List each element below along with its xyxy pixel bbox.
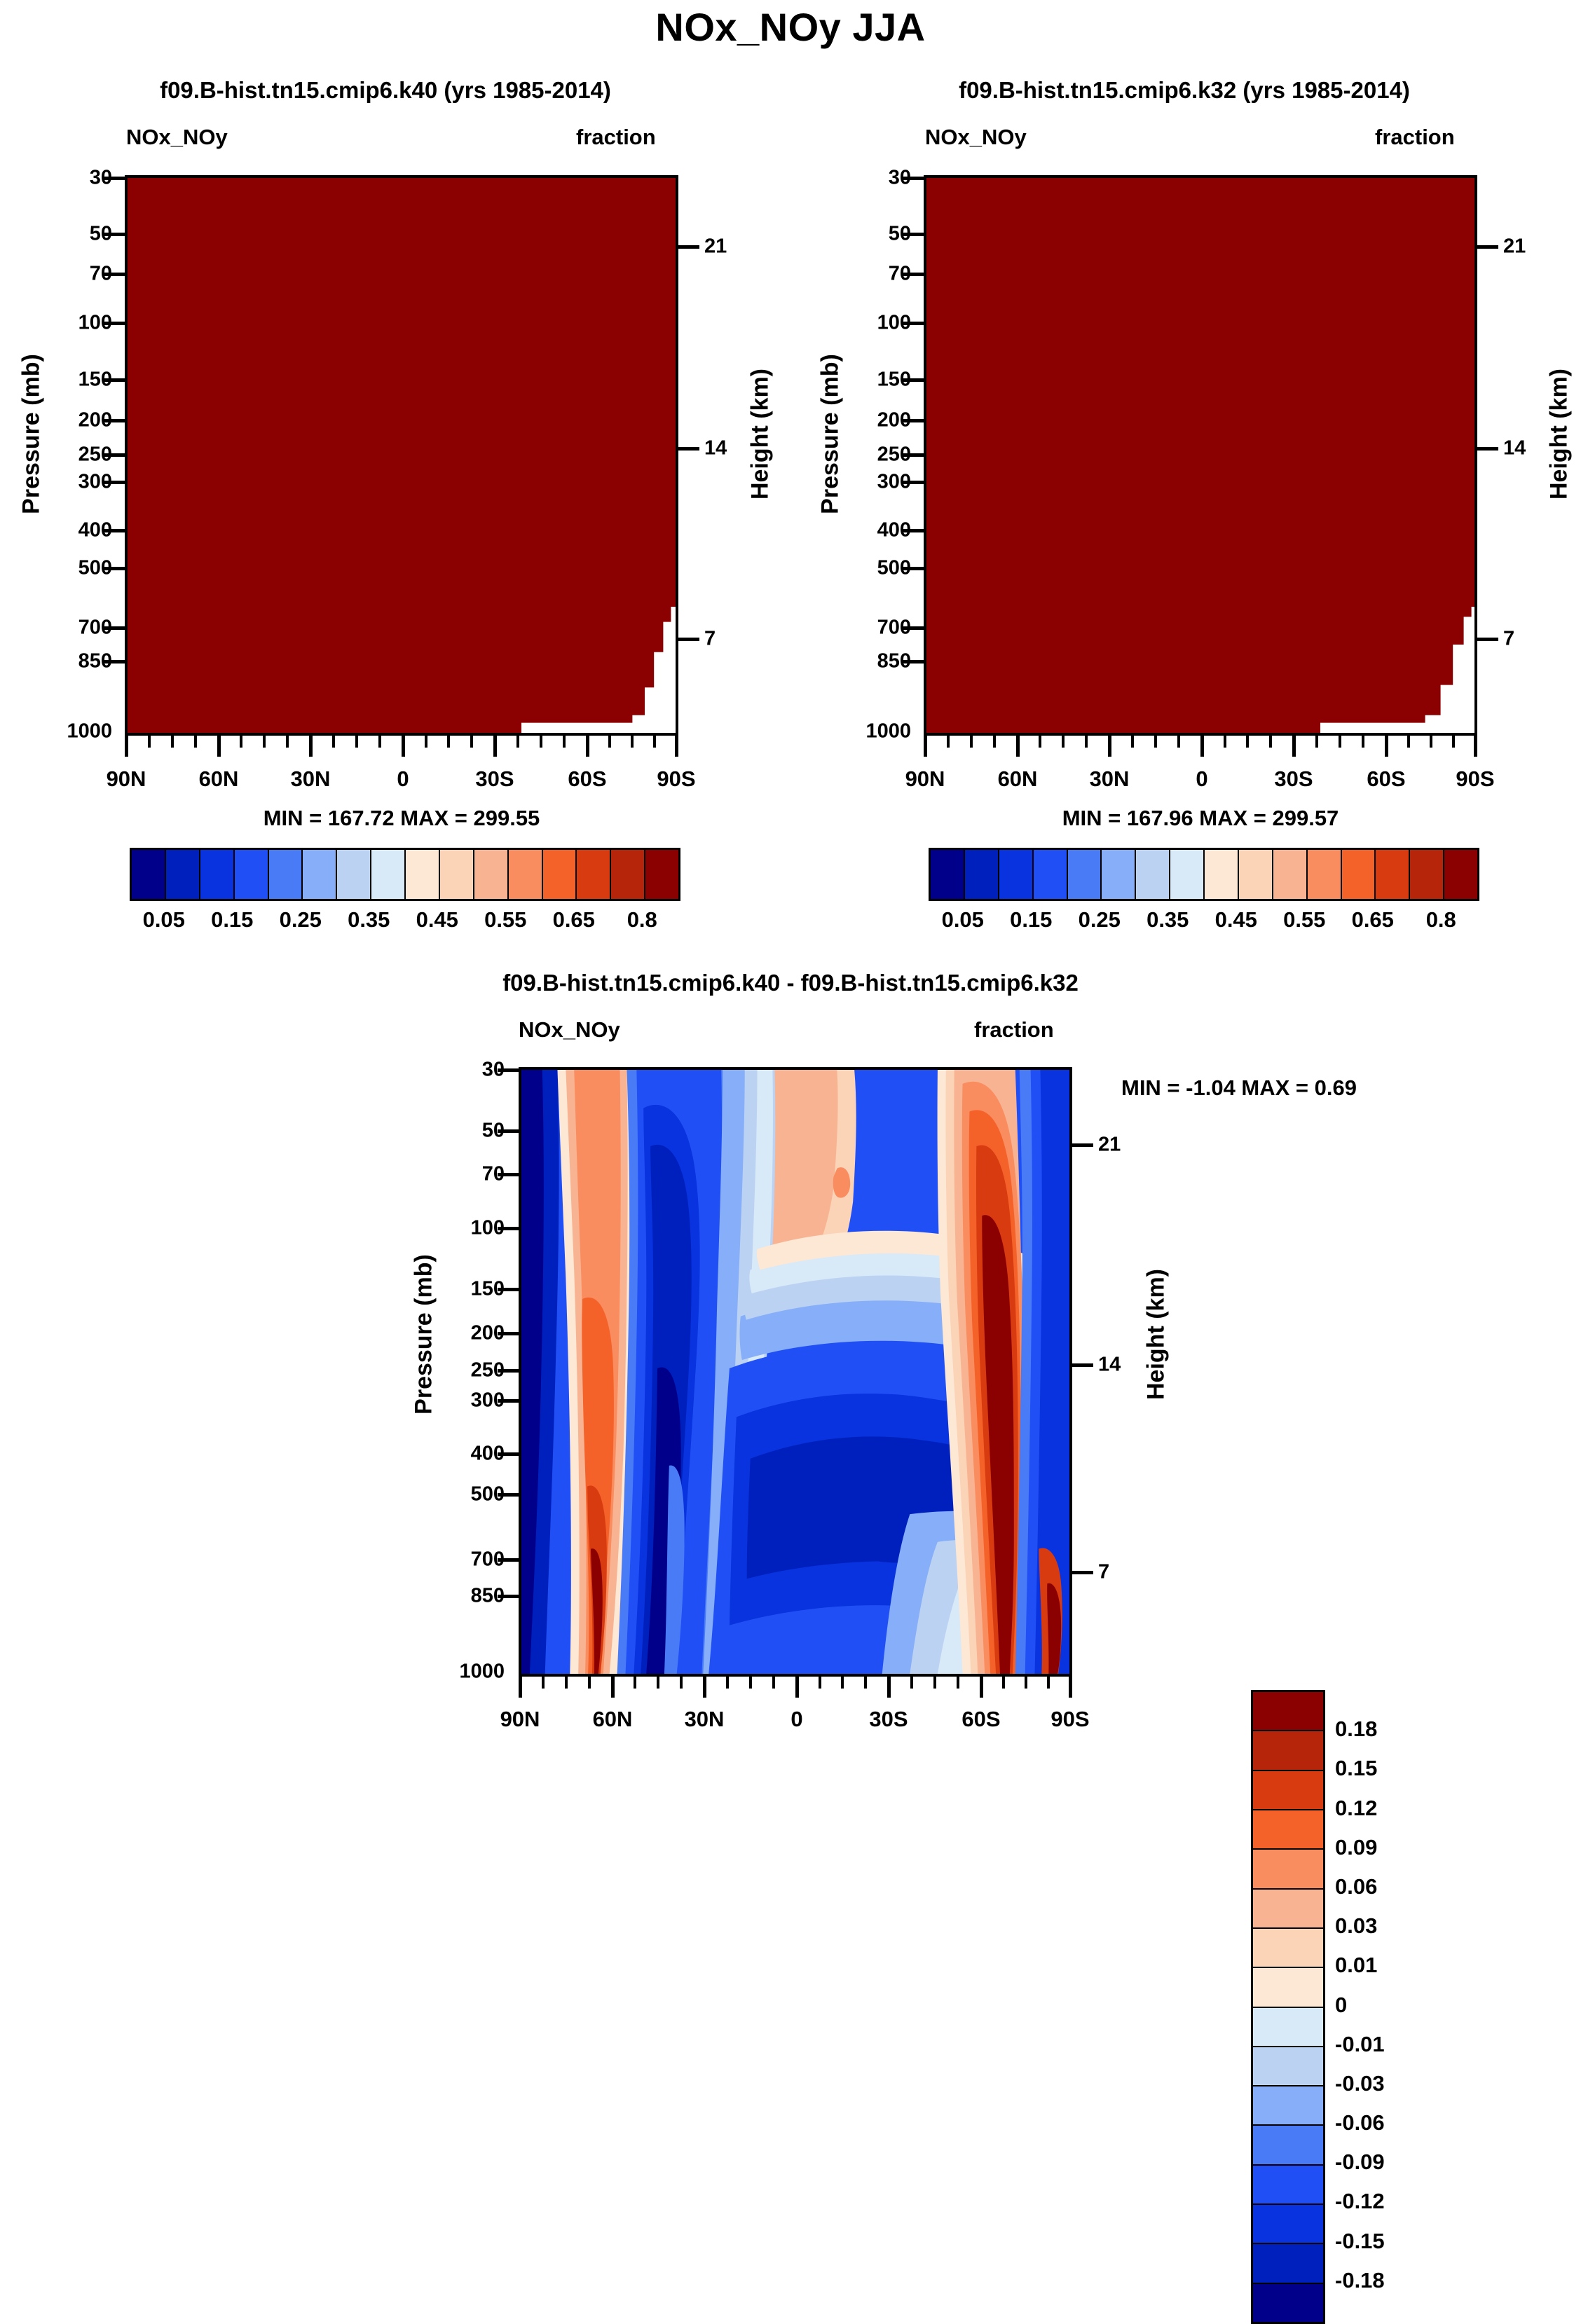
ytick-500: 500 — [392, 1483, 505, 1506]
colorbar-cell-0 — [931, 850, 965, 899]
xtick-60N: 60N — [998, 766, 1038, 792]
y2tick-21: 21 — [1503, 235, 1581, 259]
diff-colorbar-cell-1 — [1253, 1731, 1323, 1770]
colorbar-label-0: 0.05 — [143, 907, 185, 933]
diff-colorbar-cell-3 — [1253, 1810, 1323, 1850]
panel-k32-y-axis-title: Pressure (mb) — [817, 329, 844, 539]
xtick-90N: 90N — [500, 1707, 540, 1732]
colorbar-label-4: 0.45 — [416, 907, 458, 933]
ytick-100: 100 — [392, 1217, 505, 1240]
colorbar-cell-9 — [440, 850, 474, 899]
diff-colorbar-cell-7 — [1253, 1968, 1323, 2007]
y2tick-14: 14 — [1503, 437, 1581, 460]
ytick-150: 150 — [0, 369, 112, 392]
ytick-400: 400 — [392, 1443, 505, 1466]
colorbar-cell-15 — [645, 850, 678, 899]
colorbar-label-5: 0.55 — [1283, 907, 1325, 933]
colorbar-cell-5 — [303, 850, 337, 899]
diff-colorbar-cell-6 — [1253, 1929, 1323, 1968]
y2tick-7: 7 — [1098, 1561, 1182, 1584]
ytick-500: 500 — [0, 557, 112, 580]
xtick-30S: 30S — [475, 766, 514, 792]
ytick-50: 50 — [392, 1120, 505, 1143]
colorbar-label-5: 0.55 — [484, 907, 526, 933]
figure-title: NOx_NOy JJA — [0, 4, 1581, 50]
colorbar-cell-11 — [1308, 850, 1342, 899]
y2tick-14: 14 — [704, 437, 788, 460]
panel-k40-y-axis-title: Pressure (mb) — [18, 329, 46, 539]
panel-k32-field-fill — [926, 178, 1474, 733]
diff-colorbar-label-5: 0.03 — [1335, 1913, 1377, 1939]
colorbar-label-2: 0.25 — [280, 907, 322, 933]
xtick-0: 0 — [1196, 766, 1207, 792]
ytick-300: 300 — [392, 1389, 505, 1412]
colorbar-label-4: 0.45 — [1215, 907, 1257, 933]
diff-colorbar-cell-9 — [1253, 2047, 1323, 2086]
ytick-150: 150 — [392, 1278, 505, 1301]
colorbar-cell-13 — [1376, 850, 1410, 899]
colorbar-label-2: 0.25 — [1079, 907, 1121, 933]
ytick-100: 100 — [0, 312, 112, 335]
colorbar-cell-4 — [1068, 850, 1102, 899]
colorbar-cell-2 — [200, 850, 235, 899]
xtick-60N: 60N — [199, 766, 239, 792]
ytick-30: 30 — [0, 167, 112, 190]
ytick-70: 70 — [799, 263, 911, 286]
diff-colorbar-label-9: -0.03 — [1335, 2071, 1385, 2096]
diff-colorbar-label-13: -0.15 — [1335, 2229, 1385, 2254]
xtick-30S: 30S — [869, 1707, 908, 1732]
ytick-850: 850 — [0, 650, 112, 673]
xtick-60N: 60N — [593, 1707, 633, 1732]
ytick-300: 300 — [0, 471, 112, 494]
xtick-90S: 90S — [1456, 766, 1494, 792]
xtick-30N: 30N — [685, 1707, 725, 1732]
colorbar-cell-15 — [1444, 850, 1477, 899]
colorbar-cell-12 — [543, 850, 577, 899]
panel-k32-y2-axis-title: Height (km) — [1546, 329, 1573, 539]
ytick-500: 500 — [799, 557, 911, 580]
ytick-300: 300 — [799, 471, 911, 494]
ytick-700: 700 — [0, 617, 112, 640]
ytick-250: 250 — [799, 444, 911, 467]
colorbar-cell-8 — [1205, 850, 1239, 899]
colorbar-cell-1 — [965, 850, 999, 899]
panel-k40-y2-axis-title: Height (km) — [747, 329, 774, 539]
diff-colorbar-label-2: 0.12 — [1335, 1796, 1377, 1821]
diff-colorbar-label-4: 0.06 — [1335, 1874, 1377, 1899]
diff-colorbar-label-12: -0.12 — [1335, 2189, 1385, 2214]
diff-colorbar-label-3: 0.09 — [1335, 1835, 1377, 1860]
ytick-30: 30 — [799, 167, 911, 190]
diff-colorbar-cell-5 — [1253, 1890, 1323, 1929]
colorbar-cell-8 — [406, 850, 440, 899]
panel-diff-colorbar-labels: 0.180.150.120.090.060.030.010-0.01-0.03-… — [1335, 1690, 1517, 2320]
panel-k40-title: f09.B-hist.tn15.cmip6.k40 (yrs 1985-2014… — [0, 77, 771, 104]
ytick-50: 50 — [0, 223, 112, 246]
xtick-60S: 60S — [1367, 766, 1405, 792]
ytick-400: 400 — [799, 519, 911, 542]
ytick-70: 70 — [392, 1163, 505, 1186]
diff-colorbar-cell-13 — [1253, 2205, 1323, 2244]
colorbar-label-1: 0.15 — [211, 907, 253, 933]
ytick-1000: 1000 — [0, 720, 112, 743]
colorbar-label-7: 0.8 — [627, 907, 657, 933]
panel-diff-y2-axis-title: Height (km) — [1143, 1230, 1170, 1440]
colorbar-cell-11 — [509, 850, 543, 899]
panel-diff-variable-label: NOx_NOy — [519, 1017, 620, 1043]
diff-colorbar-cell-14 — [1253, 2244, 1323, 2283]
colorbar-cell-10 — [1273, 850, 1308, 899]
colorbar-label-6: 0.65 — [553, 907, 595, 933]
y2tick-7: 7 — [704, 628, 788, 651]
colorbar-cell-13 — [577, 850, 611, 899]
panel-diff-min-max: MIN = -1.04 MAX = 0.69 — [1121, 1075, 1542, 1101]
xtick-90S: 90S — [1050, 1707, 1089, 1732]
colorbar-cell-3 — [1034, 850, 1068, 899]
diff-colorbar-label-1: 0.15 — [1335, 1756, 1377, 1781]
colorbar-cell-7 — [371, 850, 406, 899]
colorbar-cell-14 — [611, 850, 645, 899]
diff-colorbar-cell-15 — [1253, 2284, 1323, 2322]
ytick-150: 150 — [799, 369, 911, 392]
panel-k32-variable-label: NOx_NOy — [925, 125, 1027, 150]
panel-diff-title: f09.B-hist.tn15.cmip6.k40 - f09.B-hist.t… — [0, 970, 1581, 996]
colorbar-cell-5 — [1102, 850, 1136, 899]
panel-k32-min-max: MIN = 167.96 MAX = 299.57 — [924, 806, 1477, 831]
xtick-90S: 90S — [657, 766, 695, 792]
colorbar-label-1: 0.15 — [1010, 907, 1052, 933]
xtick-60S: 60S — [961, 1707, 1000, 1732]
ytick-100: 100 — [799, 312, 911, 335]
diff-colorbar-cell-2 — [1253, 1771, 1323, 1810]
panel-k32-colorbar[interactable] — [929, 848, 1479, 901]
colorbar-cell-1 — [166, 850, 200, 899]
colorbar-cell-9 — [1239, 850, 1273, 899]
xtick-90N: 90N — [905, 766, 945, 792]
ytick-250: 250 — [392, 1359, 505, 1382]
panel-k40-colorbar[interactable] — [130, 848, 680, 901]
diff-colorbar-cell-8 — [1253, 2008, 1323, 2047]
panel-diff-plot-area[interactable] — [519, 1067, 1072, 1677]
panel-k40-variable-label: NOx_NOy — [126, 125, 228, 150]
diff-colorbar-cell-4 — [1253, 1850, 1323, 1889]
ytick-50: 50 — [799, 223, 911, 246]
ytick-850: 850 — [799, 650, 911, 673]
colorbar-cell-12 — [1342, 850, 1376, 899]
diff-colorbar-label-10: -0.06 — [1335, 2110, 1385, 2136]
colorbar-cell-7 — [1170, 850, 1205, 899]
ytick-850: 850 — [392, 1585, 505, 1608]
panel-diff-units-label: fraction — [974, 1017, 1054, 1043]
panel-k40-units-label: fraction — [576, 125, 656, 150]
colorbar-label-6: 0.65 — [1352, 907, 1394, 933]
ytick-200: 200 — [0, 409, 112, 432]
colorbar-label-7: 0.8 — [1426, 907, 1456, 933]
ytick-30: 30 — [392, 1059, 505, 1082]
ytick-700: 700 — [392, 1548, 505, 1572]
y2tick-21: 21 — [1098, 1134, 1182, 1157]
ytick-1000: 1000 — [392, 1661, 505, 1684]
panel-k32-colorbar-labels: 0.050.150.250.350.450.550.650.8 — [929, 907, 1475, 935]
diff-colorbar-label-14: -0.18 — [1335, 2268, 1385, 2293]
colorbar-cell-6 — [337, 850, 371, 899]
diff-colorbar-cell-0 — [1253, 1692, 1323, 1731]
xtick-30N: 30N — [1090, 766, 1130, 792]
panel-k40-colorbar-labels: 0.050.150.250.350.450.550.650.8 — [130, 907, 676, 935]
ytick-200: 200 — [799, 409, 911, 432]
panel-k32-title: f09.B-hist.tn15.cmip6.k32 (yrs 1985-2014… — [799, 77, 1570, 104]
diff-colorbar-cell-10 — [1253, 2086, 1323, 2126]
colorbar-label-0: 0.05 — [942, 907, 984, 933]
diff-colorbar-label-0: 0.18 — [1335, 1717, 1377, 1742]
ytick-200: 200 — [392, 1322, 505, 1345]
colorbar-cell-14 — [1410, 850, 1444, 899]
panel-diff-contour-field — [521, 1070, 1069, 1674]
diff-colorbar-label-7: 0 — [1335, 1993, 1347, 2018]
y2tick-14: 14 — [1098, 1354, 1182, 1377]
colorbar-label-3: 0.35 — [1147, 907, 1189, 933]
xtick-30S: 30S — [1274, 766, 1313, 792]
panel-k32-units-label: fraction — [1375, 125, 1455, 150]
colorbar-cell-3 — [235, 850, 269, 899]
xtick-0: 0 — [397, 766, 409, 792]
panel-k40-min-max: MIN = 167.72 MAX = 299.55 — [125, 806, 678, 831]
xtick-0: 0 — [790, 1707, 802, 1732]
y2tick-7: 7 — [1503, 628, 1581, 651]
xtick-60S: 60S — [568, 766, 606, 792]
panel-diff-colorbar[interactable] — [1251, 1690, 1325, 2324]
diff-colorbar-label-8: -0.01 — [1335, 2032, 1385, 2057]
colorbar-cell-0 — [132, 850, 166, 899]
ytick-250: 250 — [0, 444, 112, 467]
colorbar-cell-10 — [474, 850, 509, 899]
xtick-30N: 30N — [291, 766, 331, 792]
colorbar-label-3: 0.35 — [348, 907, 390, 933]
diff-colorbar-label-11: -0.09 — [1335, 2150, 1385, 2175]
diff-colorbar-cell-11 — [1253, 2126, 1323, 2165]
y2tick-21: 21 — [704, 235, 788, 259]
diff-colorbar-cell-12 — [1253, 2166, 1323, 2205]
ytick-1000: 1000 — [799, 720, 911, 743]
ytick-400: 400 — [0, 519, 112, 542]
colorbar-cell-2 — [999, 850, 1034, 899]
colorbar-cell-4 — [269, 850, 303, 899]
panel-k40-field-fill — [128, 178, 676, 733]
ytick-700: 700 — [799, 617, 911, 640]
diff-colorbar-label-6: 0.01 — [1335, 1953, 1377, 1978]
panel-k32-plot-area[interactable] — [924, 175, 1477, 736]
colorbar-cell-6 — [1136, 850, 1170, 899]
ytick-70: 70 — [0, 263, 112, 286]
panel-k40-plot-area[interactable] — [125, 175, 678, 736]
xtick-90N: 90N — [107, 766, 146, 792]
